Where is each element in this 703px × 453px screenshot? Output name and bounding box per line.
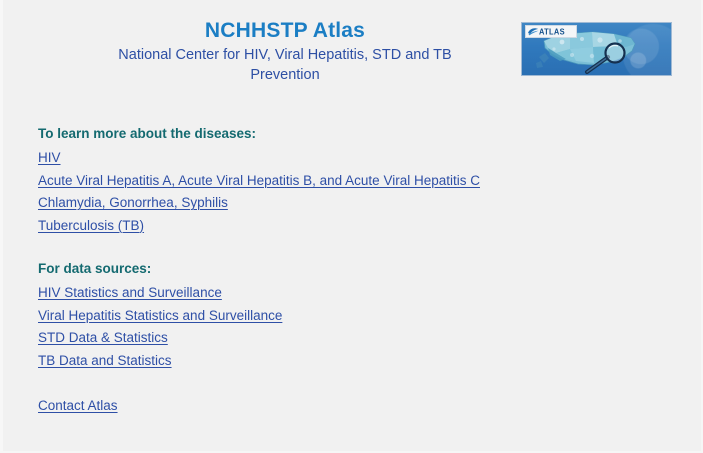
section-data-sources-heading: For data sources: — [38, 259, 658, 278]
page-subtitle: National Center for HIV, Viral Hepatitis… — [100, 46, 470, 85]
list-item: Viral Hepatitis Statistics and Surveilla… — [38, 305, 658, 328]
section-data-sources-link-list: HIV Statistics and Surveillance Viral He… — [38, 282, 658, 372]
list-item: Chlamydia, Gonorrhea, Syphilis — [38, 192, 658, 215]
page-header: NCHHSTP Atlas National Center for HIV, V… — [0, 0, 703, 100]
swoosh-icon — [527, 27, 539, 36]
link-hiv[interactable]: HIV — [38, 150, 61, 165]
contact-row: Contact Atlas — [38, 395, 658, 418]
list-item: HIV Statistics and Surveillance — [38, 282, 658, 305]
title-block: NCHHSTP Atlas National Center for HIV, V… — [100, 18, 470, 85]
link-viral-hepatitis-abc[interactable]: Acute Viral Hepatitis A, Acute Viral Hep… — [38, 173, 480, 188]
link-tb-data-statistics[interactable]: TB Data and Statistics — [38, 353, 172, 368]
contact-spacer — [38, 372, 658, 395]
atlas-logo-label-text: ATLAS — [539, 26, 565, 36]
section-spacer — [38, 237, 658, 259]
section-diseases-heading: To learn more about the diseases: — [38, 124, 658, 143]
link-chlamydia-gonorrhea-syphilis[interactable]: Chlamydia, Gonorrhea, Syphilis — [38, 195, 228, 210]
page-content: To learn more about the diseases: HIV Ac… — [38, 124, 658, 418]
atlas-logo-banner: ATLAS — [521, 22, 672, 76]
magnifying-glass-icon — [584, 41, 630, 75]
list-item: HIV — [38, 147, 658, 170]
list-item: STD Data & Statistics — [38, 327, 658, 350]
link-contact-atlas[interactable]: Contact Atlas — [38, 398, 118, 413]
link-hiv-statistics-surveillance[interactable]: HIV Statistics and Surveillance — [38, 285, 222, 300]
list-item: TB Data and Statistics — [38, 350, 658, 373]
section-diseases-link-list: HIV Acute Viral Hepatitis A, Acute Viral… — [38, 147, 658, 237]
section-data-sources: For data sources: HIV Statistics and Sur… — [38, 259, 658, 372]
atlas-logo-label: ATLAS — [525, 25, 577, 38]
page-title: NCHHSTP Atlas — [100, 18, 470, 43]
link-std-data-statistics[interactable]: STD Data & Statistics — [38, 330, 168, 345]
list-item: Acute Viral Hepatitis A, Acute Viral Hep… — [38, 170, 658, 193]
list-item: Tuberculosis (TB) — [38, 215, 658, 238]
link-tuberculosis[interactable]: Tuberculosis (TB) — [38, 218, 144, 233]
section-diseases: To learn more about the diseases: HIV Ac… — [38, 124, 658, 237]
link-viral-hepatitis-statistics-surveillance[interactable]: Viral Hepatitis Statistics and Surveilla… — [38, 308, 282, 323]
